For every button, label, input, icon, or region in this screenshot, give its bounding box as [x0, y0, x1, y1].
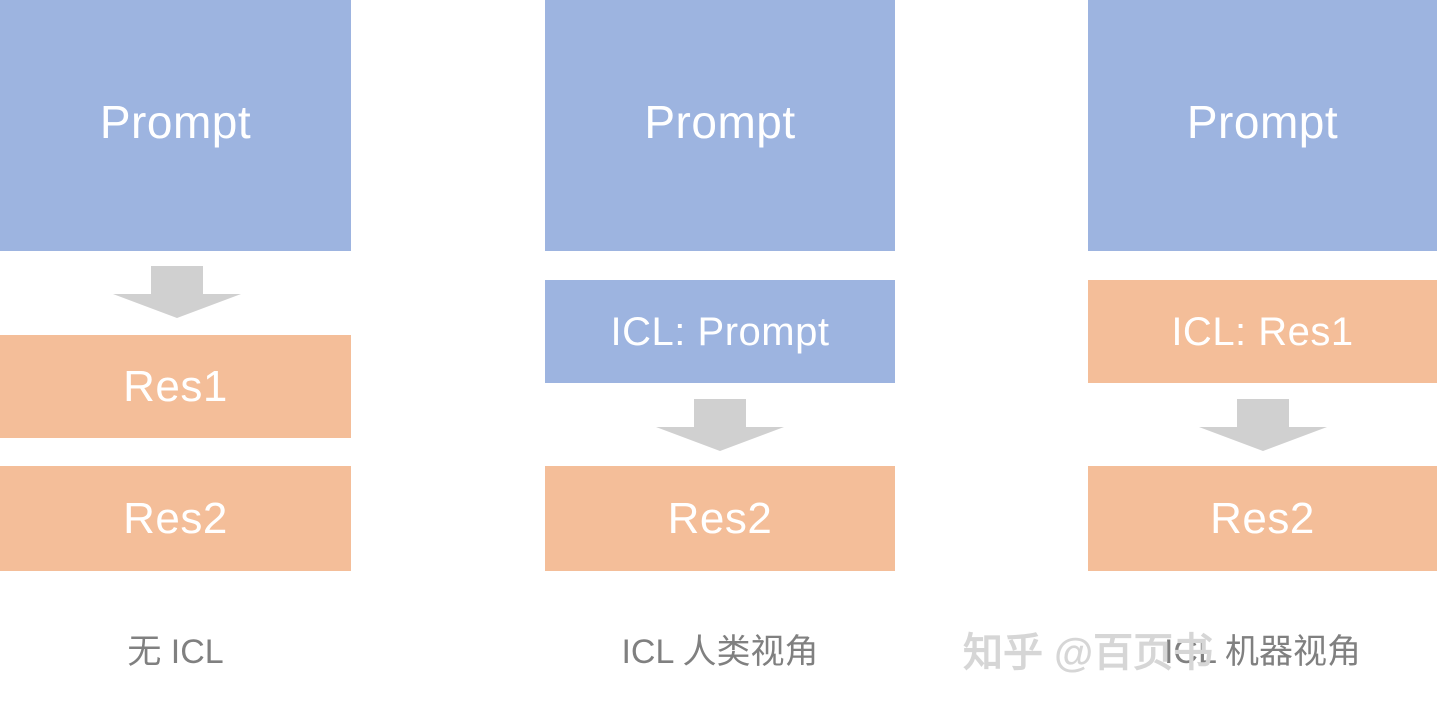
block-label: Res2	[668, 497, 773, 541]
block-res2-col2: Res2	[545, 466, 895, 571]
block-label: ICL: Prompt	[611, 312, 830, 352]
diagram-canvas: Prompt Res1 Res2 无 ICL Prompt ICL: Promp…	[0, 0, 1440, 707]
block-label: ICL: Res1	[1171, 312, 1353, 352]
caption-col1: 无 ICL	[0, 635, 351, 669]
block-prompt-col2: Prompt	[545, 0, 895, 251]
arrow-down-icon-col1	[113, 266, 241, 318]
block-res2-col3: Res2	[1088, 466, 1437, 571]
arrow-down-icon-col3	[1199, 399, 1327, 451]
block-icl-prompt-col2: ICL: Prompt	[545, 280, 895, 383]
block-label: Res2	[1210, 497, 1315, 541]
block-prompt-col3: Prompt	[1088, 0, 1437, 251]
block-res1-col1: Res1	[0, 335, 351, 438]
caption-col3: ICL 机器视角	[1088, 635, 1437, 669]
caption-col2: ICL 人类视角	[545, 635, 895, 669]
block-icl-res1-col3: ICL: Res1	[1088, 280, 1437, 383]
block-label: Res2	[123, 497, 228, 541]
block-label: Prompt	[1187, 99, 1338, 145]
block-label: Res1	[123, 365, 228, 409]
block-label: Prompt	[644, 99, 795, 145]
block-res2-col1: Res2	[0, 466, 351, 571]
arrow-down-icon-col2	[656, 399, 784, 451]
block-prompt-col1: Prompt	[0, 0, 351, 251]
block-label: Prompt	[100, 99, 251, 145]
